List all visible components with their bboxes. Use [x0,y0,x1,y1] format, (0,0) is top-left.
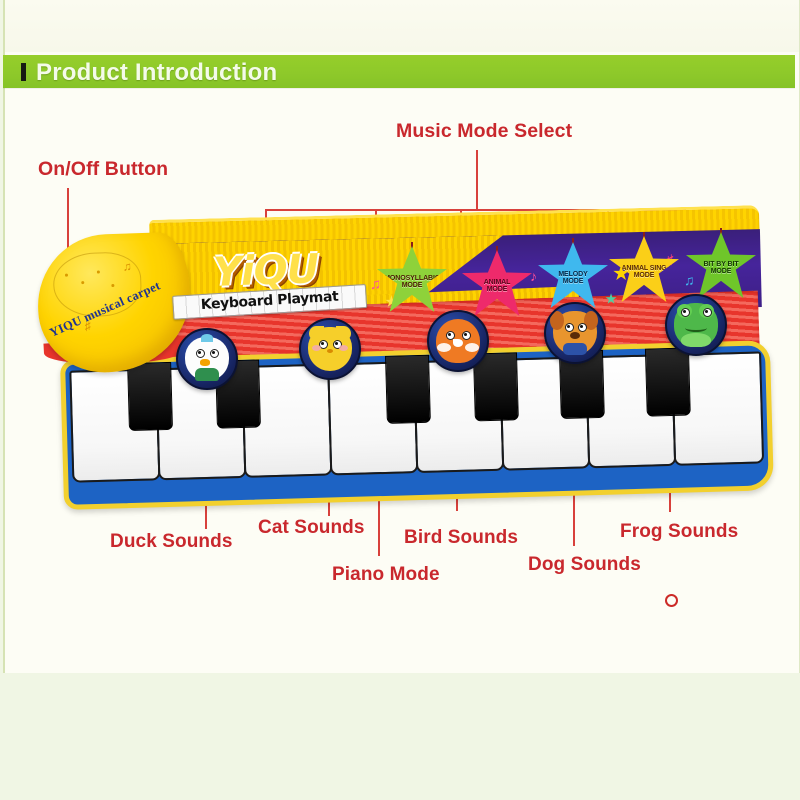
animal-button-duck[interactable] [176,328,238,390]
annotation-piano-mode: Piano Mode [332,564,440,586]
animal-button-bird[interactable] [427,310,489,372]
annotation-dog-sounds: Dog Sounds [528,554,641,576]
header-bullet-icon [21,63,26,81]
brand-logo: YiQU Keyboard Playmat [177,245,355,321]
black-key[interactable] [127,362,173,431]
animal-button-frog[interactable] [665,294,727,356]
black-key[interactable] [645,347,691,416]
music-note-decor: ♪ [530,268,537,284]
page-title: Product Introduction [36,59,277,87]
dog-icon [553,311,597,355]
confetti-star-decor: ✭ [606,292,616,306]
mat-body: ♫ ✭ ♪ ✭ ✭ ♯ ♫ ✭ [38,218,760,508]
keyboard-keys [65,345,769,504]
musical-playmat[interactable]: ♫ ✭ ♪ ✭ ✭ ♯ ♫ ✭ [38,218,760,508]
annotation-bird-sounds: Bird Sounds [404,527,518,549]
black-key[interactable] [385,355,431,424]
music-note-icon: ♫ [122,259,131,273]
animal-button-cat[interactable] [299,318,361,380]
music-note-decor: ♫ [684,272,695,288]
piano-keyboard[interactable] [60,340,774,510]
section-header-bar: Product Introduction [3,55,795,88]
frog-icon [674,303,718,347]
annotation-music-mode-select: Music Mode Select [396,120,572,143]
annotation-frog-sounds: Frog Sounds [620,521,738,543]
leader-music-mode-stem [476,150,478,210]
animal-button-dog[interactable] [544,302,606,364]
leader-ring-frog [665,594,678,607]
annotation-cat-sounds: Cat Sounds [258,517,365,539]
annotation-on-off: On/Off Button [38,158,168,181]
duck-icon [185,337,229,381]
cat-icon [308,327,352,371]
screenshot-root: Product Introduction ♫ [0,0,800,800]
annotation-duck-sounds: Duck Sounds [110,531,233,553]
bird-icon [436,319,480,363]
music-note-decor: ♫ [370,276,381,293]
panel-top-strip [5,0,799,52]
